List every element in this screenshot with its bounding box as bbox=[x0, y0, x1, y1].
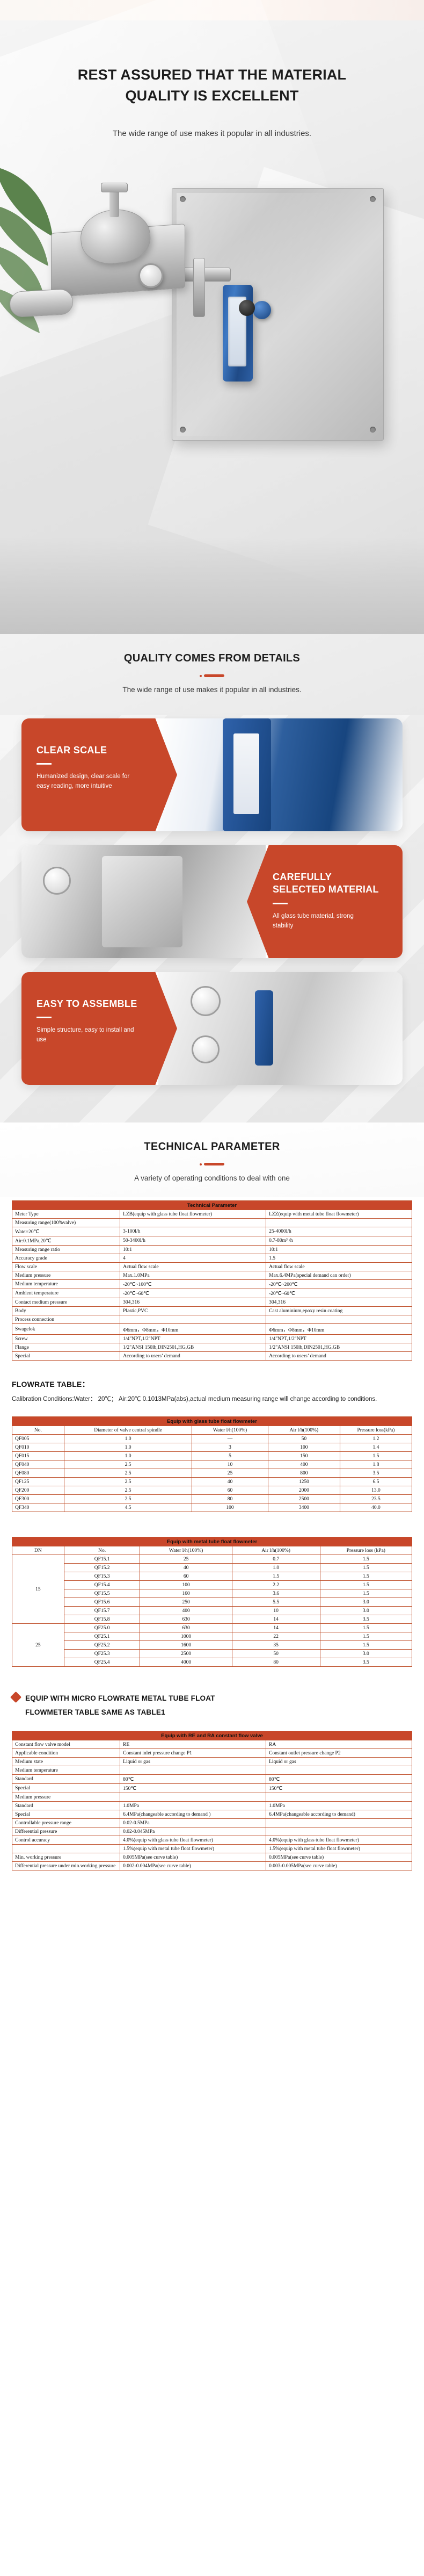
table-cell bbox=[266, 1827, 412, 1836]
table-cell: Body bbox=[12, 1307, 120, 1315]
table-row: QF0101.031001.4 bbox=[12, 1443, 412, 1452]
table-row: QF15.41002.21.5 bbox=[12, 1581, 412, 1589]
table-cell: 4000 bbox=[140, 1658, 232, 1667]
table-row: QF25.32500503.0 bbox=[12, 1650, 412, 1658]
table-cell: 3.5 bbox=[320, 1658, 412, 1667]
table-header: Equip with metal tube float flowmeter bbox=[12, 1537, 412, 1546]
column-header: Air l/h(100%) bbox=[232, 1546, 320, 1555]
card-title: CLEAR SCALE bbox=[36, 744, 161, 757]
column-header: Pressure loss(kPa) bbox=[340, 1426, 412, 1435]
table-cell: 2500 bbox=[140, 1650, 232, 1658]
micro-heading-line2: FLOWMETER TABLE SAME AS TABLE1 bbox=[25, 1708, 165, 1716]
table-cell: 60 bbox=[192, 1486, 268, 1495]
table-cell: Differential pressure under min.working … bbox=[12, 1862, 120, 1870]
table-cell: 400 bbox=[268, 1460, 340, 1469]
table-row: Measuring range(100%valve) bbox=[12, 1219, 412, 1227]
table-cell: 1.5 bbox=[232, 1572, 320, 1581]
table-cell: Meter Type bbox=[12, 1210, 120, 1219]
table-cell: 6.4MPa(changeable according to demand ) bbox=[120, 1810, 266, 1819]
table-cell: 2.5 bbox=[64, 1460, 192, 1469]
technical-parameter-title: TECHNICAL PARAMETER bbox=[0, 1141, 424, 1153]
table-cell: 1250 bbox=[268, 1478, 340, 1486]
table-cell: 25 bbox=[140, 1555, 232, 1564]
table-cell: 60 bbox=[140, 1572, 232, 1581]
table-cell: 1.5 bbox=[320, 1555, 412, 1564]
table-cell: RA bbox=[266, 1740, 412, 1749]
table-cell: 50 bbox=[232, 1650, 320, 1658]
table-cell: Water:20℃ bbox=[12, 1227, 120, 1236]
table-cell: 630 bbox=[140, 1615, 232, 1624]
table-row: Constant flow valve modelRERA bbox=[12, 1740, 412, 1749]
table-cell: QF25.3 bbox=[64, 1650, 140, 1658]
table-cell: -20℃~60℃ bbox=[266, 1289, 412, 1298]
table-cell: 1.5 bbox=[320, 1589, 412, 1598]
table-row: Ambient temperature-20℃~60℃-20℃~60℃ bbox=[12, 1289, 412, 1298]
selected-material-panel: CAREFULLY SELECTED MATERIAL All glass tu… bbox=[247, 845, 403, 958]
table-cell: 150℃ bbox=[266, 1784, 412, 1793]
table-row: QF0051.0—501.2 bbox=[12, 1435, 412, 1443]
table-cell: Max.1.0MPa bbox=[120, 1271, 266, 1280]
column-header: No. bbox=[64, 1546, 140, 1555]
table-row: Contact medium pressure304,316304,316 bbox=[12, 1298, 412, 1307]
table-cell: Liquid or gas bbox=[266, 1758, 412, 1766]
table-cell: 1.4 bbox=[340, 1443, 412, 1452]
table-cell: Max.6.4MPa(special demand can order) bbox=[266, 1271, 412, 1280]
table-row: Flow scaleActual flow scaleActual flow s… bbox=[12, 1263, 412, 1271]
table-row: QF25.21600351.5 bbox=[12, 1641, 412, 1650]
table-cell: QF15.8 bbox=[64, 1615, 140, 1624]
table-cell: QF25.0 bbox=[64, 1624, 140, 1632]
hero-subtitle: The wide range of use makes it popular i… bbox=[0, 129, 424, 138]
table-cell bbox=[266, 1819, 412, 1827]
blue-flowmeter-body bbox=[223, 285, 253, 382]
table-row: Measuring range ratio10:110:1 bbox=[12, 1246, 412, 1254]
micro-heading-line1: EQUIP WITH MICRO FLOWRATE METAL TUBE FLO… bbox=[25, 1694, 215, 1702]
table-cell: 6.4MPa(changeable according to demand) bbox=[266, 1810, 412, 1819]
table-cell: — bbox=[192, 1435, 268, 1443]
table-cell: Cast aluminium,epoxy resin coating bbox=[266, 1307, 412, 1315]
card-underline bbox=[36, 763, 52, 765]
table-cell: 1.5 bbox=[266, 1254, 412, 1263]
table-cell: Constant outlet pressure change P2 bbox=[266, 1749, 412, 1758]
table-cell: LZZ(equip with metal tube float flowmete… bbox=[266, 1210, 412, 1219]
table-cell: Flow scale bbox=[12, 1263, 120, 1271]
table-row: Screw1/4"NPT,1/2"NPT1/4"NPT,1/2"NPT bbox=[12, 1335, 412, 1343]
table-cell: 3.0 bbox=[320, 1650, 412, 1658]
column-header: Pressure loss (kPa) bbox=[320, 1546, 412, 1555]
table-cell: 1000 bbox=[140, 1632, 232, 1641]
table-cell: 6.5 bbox=[340, 1478, 412, 1486]
table-cell: QF25.4 bbox=[64, 1658, 140, 1667]
table-cell: 304,316 bbox=[266, 1298, 412, 1307]
table-cell: LZB(equip with glass tube float flowmete… bbox=[120, 1210, 266, 1219]
table-cell: 40 bbox=[192, 1478, 268, 1486]
card-underline bbox=[273, 903, 288, 904]
table-cell: QF15.6 bbox=[64, 1598, 140, 1607]
table-row: Flange1/2"ANSI 150lb,DIN2501,HG,GB1/2"AN… bbox=[12, 1343, 412, 1352]
table-cell: 160 bbox=[140, 1589, 232, 1598]
table-cell: 25-4000l/h bbox=[266, 1227, 412, 1236]
hero-title-line1: REST ASSURED THAT THE MATERIAL bbox=[21, 64, 403, 85]
table-cell: 1/2"ANSI 150lb,DIN2501,HG,GB bbox=[120, 1343, 266, 1352]
table-cell: 5 bbox=[192, 1452, 268, 1460]
table-row: 25QF25.0630141.5 bbox=[12, 1624, 412, 1632]
table-row: 1.5%(equip with metal tube float flowmet… bbox=[12, 1845, 412, 1853]
table-cell bbox=[12, 1845, 120, 1853]
table-cell: 40 bbox=[140, 1564, 232, 1572]
table-cell: Swagelok bbox=[12, 1324, 120, 1335]
table-cell bbox=[120, 1315, 266, 1324]
table-cell: 1.0MPa bbox=[266, 1802, 412, 1810]
table-row: Standard80℃80℃ bbox=[12, 1775, 412, 1784]
table-cell: Applicable condition bbox=[12, 1749, 120, 1758]
table-cell: 25 bbox=[192, 1469, 268, 1478]
easy-assemble-panel: EASY TO ASSEMBLE Simple structure, easy … bbox=[21, 972, 177, 1085]
table-row: SwagelokΦ6mm，Φ8mm，Φ10mmΦ6mm，Φ8mm，Φ10mm bbox=[12, 1324, 412, 1335]
table-cell: 0.005MPa(see curve table) bbox=[120, 1853, 266, 1862]
table-cell: 50 bbox=[268, 1435, 340, 1443]
table-cell: QF15.7 bbox=[64, 1607, 140, 1615]
table-cell: 3 bbox=[192, 1443, 268, 1452]
feature-card-clear-scale: CLEAR SCALE Humanized design, clear scal… bbox=[21, 718, 403, 831]
table-cell: QF15.1 bbox=[64, 1555, 140, 1564]
clear-scale-panel: CLEAR SCALE Humanized design, clear scal… bbox=[21, 718, 177, 831]
table-cell: 1.5 bbox=[320, 1564, 412, 1572]
table-cell: 10 bbox=[232, 1607, 320, 1615]
table-row: QF2002.560200013.0 bbox=[12, 1486, 412, 1495]
table-cell: 50-3400l/h bbox=[120, 1236, 266, 1246]
table-cell: 1.5 bbox=[320, 1624, 412, 1632]
table-row: Medium pressure bbox=[12, 1793, 412, 1802]
table-cell: 10:1 bbox=[120, 1246, 266, 1254]
table-cell: 1.5 bbox=[320, 1641, 412, 1650]
card-description: All glass tube material, strong stabilit… bbox=[273, 912, 375, 931]
feature-cards: CLEAR SCALE Humanized design, clear scal… bbox=[0, 715, 424, 1122]
table-cell: 4.0%(equip with glass tube float flowmet… bbox=[120, 1836, 266, 1845]
feature-card-selected-material: CAREFULLY SELECTED MATERIAL All glass tu… bbox=[21, 845, 403, 958]
table-cell: QF15.5 bbox=[64, 1589, 140, 1598]
table-cell: 0.02-0.045MPa bbox=[120, 1827, 266, 1836]
table-cell bbox=[266, 1793, 412, 1802]
technical-parameter-table-wrap: Technical Parameter Meter TypeLZB(equip … bbox=[0, 1197, 424, 1371]
table-cell: 1.0 bbox=[232, 1564, 320, 1572]
technical-parameter-header: TECHNICAL PARAMETER A variety of operati… bbox=[0, 1122, 424, 1197]
table-row: Water:20℃3-100l/h25-4000l/h bbox=[12, 1227, 412, 1236]
section-divider bbox=[200, 674, 224, 677]
clear-scale-photo bbox=[158, 718, 403, 831]
table-cell: QF005 bbox=[12, 1435, 64, 1443]
table-row: Medium pressureMax.1.0MPaMax.6.4MPa(spec… bbox=[12, 1271, 412, 1280]
card-description: Humanized design, clear scale for easy r… bbox=[36, 772, 138, 791]
blue-flowmeter-knob bbox=[253, 301, 271, 319]
table-cell: QF15.3 bbox=[64, 1572, 140, 1581]
table-row: Special150℃150℃ bbox=[12, 1784, 412, 1793]
table-row: Special6.4MPa(changeable according to de… bbox=[12, 1810, 412, 1819]
table-cell: Standard bbox=[12, 1775, 120, 1784]
table-row: QF15.62505.53.0 bbox=[12, 1598, 412, 1607]
table-cell: Φ6mm，Φ8mm，Φ10mm bbox=[120, 1324, 266, 1335]
table-cell: 150 bbox=[268, 1452, 340, 1460]
table-cell: Medium state bbox=[12, 1758, 120, 1766]
table-cell: 2.5 bbox=[64, 1495, 192, 1503]
flowrate-note: Calibration Conditions:Water： 20℃； Air:2… bbox=[0, 1394, 424, 1413]
details-section-subtitle: The wide range of use makes it popular i… bbox=[0, 686, 424, 715]
table-cell: 1.5 bbox=[320, 1581, 412, 1589]
table-cell: 1/4"NPT,1/2"NPT bbox=[266, 1335, 412, 1343]
table-cell: 100 bbox=[268, 1443, 340, 1452]
table-cell: 100 bbox=[140, 1581, 232, 1589]
table-row: QF3002.580250023.5 bbox=[12, 1495, 412, 1503]
table-cell: Control accuracy bbox=[12, 1836, 120, 1845]
table-cell bbox=[120, 1219, 266, 1227]
table-cell: Ambient temperature bbox=[12, 1289, 120, 1298]
table-cell: QF125 bbox=[12, 1478, 64, 1486]
table-cell bbox=[266, 1315, 412, 1324]
feature-card-easy-assemble: EASY TO ASSEMBLE Simple structure, easy … bbox=[21, 972, 403, 1085]
table-cell: 400 bbox=[140, 1607, 232, 1615]
table-cell: 1.5%(equip with metal tube float flowmet… bbox=[120, 1845, 266, 1853]
table-cell: 630 bbox=[140, 1624, 232, 1632]
table-cell: QF15.2 bbox=[64, 1564, 140, 1572]
table-cell bbox=[120, 1793, 266, 1802]
table-cell: According to users’ demand bbox=[120, 1352, 266, 1361]
table-row: QF25.44000803.5 bbox=[12, 1658, 412, 1667]
table-row: Min. working pressure0.005MPa(see curve … bbox=[12, 1853, 412, 1862]
table-row: Air:0.1MPa,20℃50-3400l/h0.7-80m³ /h bbox=[12, 1236, 412, 1246]
table-cell: -20℃~60℃ bbox=[120, 1289, 266, 1298]
table-cell: QF340 bbox=[12, 1503, 64, 1512]
table-cell: 10 bbox=[192, 1460, 268, 1469]
table-cell: 0.005MPa(see curve table) bbox=[266, 1853, 412, 1862]
table-cell: Constant inlet pressure change P1 bbox=[120, 1749, 266, 1758]
details-section-header: QUALITY COMES FROM DETAILS The wide rang… bbox=[0, 634, 424, 715]
table-cell: 80 bbox=[232, 1658, 320, 1667]
table-cell: 2.5 bbox=[64, 1486, 192, 1495]
card-description: Simple structure, easy to install and us… bbox=[36, 1026, 138, 1045]
table-cell: 40.0 bbox=[340, 1503, 412, 1512]
table-cell: 1.5 bbox=[320, 1572, 412, 1581]
table-cell: 35 bbox=[232, 1641, 320, 1650]
table-row: QF3404.5100340040.0 bbox=[12, 1503, 412, 1512]
table-cell: 2.2 bbox=[232, 1581, 320, 1589]
table-row: QF0151.051501.5 bbox=[12, 1452, 412, 1460]
valve-table-wrap: Equip with RE and RA constant flow valve… bbox=[0, 1721, 424, 1881]
table-cell bbox=[120, 1766, 266, 1775]
hero-title: REST ASSURED THAT THE MATERIAL QUALITY I… bbox=[0, 64, 424, 106]
constant-flow-valve-table: Equip with RE and RA constant flow valve… bbox=[12, 1731, 412, 1870]
table-cell: 3.5 bbox=[320, 1615, 412, 1624]
technical-parameter-table: Technical Parameter Meter TypeLZB(equip … bbox=[12, 1200, 412, 1361]
table-row: QF0402.5104001.8 bbox=[12, 1460, 412, 1469]
table-row: QF25.11000221.5 bbox=[12, 1632, 412, 1641]
hero-floor-shadow bbox=[0, 537, 424, 634]
valve-cap bbox=[101, 183, 128, 192]
table-cell: Flange bbox=[12, 1343, 120, 1352]
column-header: Air l/h(100%) bbox=[268, 1426, 340, 1435]
column-header: Diameter of valve central spindle bbox=[64, 1426, 192, 1435]
table-cell: 0.7-80m³ /h bbox=[266, 1236, 412, 1246]
table-cell: QF300 bbox=[12, 1495, 64, 1503]
table-cell: 800 bbox=[268, 1469, 340, 1478]
table-cell: 3.6 bbox=[232, 1589, 320, 1598]
table-row: Standard1.0MPa1.0MPa bbox=[12, 1802, 412, 1810]
table-cell: 0.02-0.5MPa bbox=[120, 1819, 266, 1827]
table-cell: Liquid or gas bbox=[120, 1758, 266, 1766]
flowrate-table-title: FLOWRATE TABLE： bbox=[0, 1371, 424, 1394]
easy-assemble-photo bbox=[158, 972, 403, 1085]
table-cell: -20℃~100℃ bbox=[120, 1280, 266, 1289]
table-cell: 14 bbox=[232, 1615, 320, 1624]
cylinder-actuator bbox=[9, 289, 74, 318]
table-cell: 1.2 bbox=[340, 1435, 412, 1443]
table-cell: 3.0 bbox=[320, 1607, 412, 1615]
table-cell: 4.5 bbox=[64, 1503, 192, 1512]
table-cell: 13.0 bbox=[340, 1486, 412, 1495]
table-cell: 3.0 bbox=[320, 1598, 412, 1607]
table-cell: 0.003-0.005MPa(see curve table) bbox=[266, 1862, 412, 1870]
pressure-gauge bbox=[138, 263, 163, 288]
vertical-pipe bbox=[193, 258, 205, 317]
table-cell: 1.0MPa bbox=[120, 1802, 266, 1810]
table-cell: 1/2"ANSI 150lb,DIN2501,HG,GB bbox=[266, 1343, 412, 1352]
table-cell: 3400 bbox=[268, 1503, 340, 1512]
dn-group-cell: 25 bbox=[12, 1624, 64, 1667]
table-cell: 1600 bbox=[140, 1641, 232, 1650]
table-row: Medium temperature bbox=[12, 1766, 412, 1775]
table-cell: 0.7 bbox=[232, 1555, 320, 1564]
card-title: EASY TO ASSEMBLE bbox=[36, 998, 161, 1010]
table-cell: Special bbox=[12, 1352, 120, 1361]
table-row: 15QF15.1250.71.5 bbox=[12, 1555, 412, 1564]
table-cell: 1.8 bbox=[340, 1460, 412, 1469]
valve-stem bbox=[109, 189, 119, 217]
table-header: Technical Parameter bbox=[12, 1201, 412, 1210]
table-row: QF15.7400103.0 bbox=[12, 1607, 412, 1615]
table-cell: Measuring range ratio bbox=[12, 1246, 120, 1254]
table-cell: Contact medium pressure bbox=[12, 1298, 120, 1307]
micro-flowrate-heading-text: EQUIP WITH MICRO FLOWRATE METAL TUBE FLO… bbox=[25, 1692, 215, 1719]
table-cell: 5.5 bbox=[232, 1598, 320, 1607]
table-cell: Medium temperature bbox=[12, 1280, 120, 1289]
table-cell: 80℃ bbox=[266, 1775, 412, 1784]
table-cell: According to users’ demand bbox=[266, 1352, 412, 1361]
table-cell: 100 bbox=[192, 1503, 268, 1512]
column-header: Water l/h(100%) bbox=[140, 1546, 232, 1555]
table-cell: Constant flow valve model bbox=[12, 1740, 120, 1749]
table-header: Equip with RE and RA constant flow valve bbox=[12, 1731, 412, 1740]
column-header: No. bbox=[12, 1426, 64, 1435]
table-cell: Φ6mm，Φ8mm，Φ10mm bbox=[266, 1324, 412, 1335]
selected-material-photo bbox=[21, 845, 266, 958]
table-header: Equip with glass tube float flowmeter bbox=[12, 1417, 412, 1426]
table-cell bbox=[266, 1766, 412, 1775]
table-cell: 304,316 bbox=[120, 1298, 266, 1307]
diamond-bullet-icon bbox=[10, 1692, 21, 1703]
table-cell: 4.0%(equip with glass tube float flowmet… bbox=[266, 1836, 412, 1845]
table-cell: 2.5 bbox=[64, 1469, 192, 1478]
column-header: Water l/h(100%) bbox=[192, 1426, 268, 1435]
table-row: Accuracy grade41.5 bbox=[12, 1254, 412, 1263]
product-detail-page: REST ASSURED THAT THE MATERIAL QUALITY I… bbox=[0, 0, 424, 1903]
table-cell: 2500 bbox=[268, 1495, 340, 1503]
column-header: DN bbox=[12, 1546, 64, 1555]
table-cell: RE bbox=[120, 1740, 266, 1749]
table-cell: 1.5 bbox=[320, 1632, 412, 1641]
table-cell: Special bbox=[12, 1784, 120, 1793]
table-row: QF15.3601.51.5 bbox=[12, 1572, 412, 1581]
table-row: QF15.8630143.5 bbox=[12, 1615, 412, 1624]
table-row: Medium temperature-20℃~100℃-20℃~200℃ bbox=[12, 1280, 412, 1289]
table-cell: 1.5 bbox=[340, 1452, 412, 1460]
table-cell: QF040 bbox=[12, 1460, 64, 1469]
table-cell: 2000 bbox=[268, 1486, 340, 1495]
table-row: Differential pressure under min.working … bbox=[12, 1862, 412, 1870]
technical-parameter-subtitle: A variety of operating conditions to dea… bbox=[0, 1174, 424, 1192]
table-cell: 2.5 bbox=[64, 1478, 192, 1486]
table-cell: QF080 bbox=[12, 1469, 64, 1478]
table-cell: Measuring range(100%valve) bbox=[12, 1219, 120, 1227]
table-row: Controllable pressure range0.02-0.5MPa bbox=[12, 1819, 412, 1827]
glass-tube-table-wrap: Equip with glass tube float flowmeter No… bbox=[0, 1413, 424, 1523]
table-cell: 4 bbox=[120, 1254, 266, 1263]
table-cell: Controllable pressure range bbox=[12, 1819, 120, 1827]
table-row: Differential pressure0.02-0.045MPa bbox=[12, 1827, 412, 1836]
tech-divider bbox=[200, 1163, 224, 1165]
table-cell: Min. working pressure bbox=[12, 1853, 120, 1862]
table-cell: 0.002-0.004MPa(see curve table) bbox=[120, 1862, 266, 1870]
table-cell: QF25.1 bbox=[64, 1632, 140, 1641]
table-cell: Actual flow scale bbox=[120, 1263, 266, 1271]
table-cell: Medium pressure bbox=[12, 1271, 120, 1280]
table-cell: Process connection bbox=[12, 1315, 120, 1324]
table-cell: Differential pressure bbox=[12, 1827, 120, 1836]
table-cell: Standard bbox=[12, 1802, 120, 1810]
table-cell: 1.0 bbox=[64, 1435, 192, 1443]
table-row: QF0802.5258003.5 bbox=[12, 1469, 412, 1478]
table-cell: Medium pressure bbox=[12, 1793, 120, 1802]
hero-product-photo bbox=[0, 177, 424, 478]
table-cell: 1/4"NPT,1/2"NPT bbox=[120, 1335, 266, 1343]
table-cell: 3.5 bbox=[340, 1469, 412, 1478]
table-cell: 80℃ bbox=[120, 1775, 266, 1784]
table-cell: QF010 bbox=[12, 1443, 64, 1452]
table-cell: Accuracy grade bbox=[12, 1254, 120, 1263]
glass-tube-flowmeter-table: Equip with glass tube float flowmeter No… bbox=[12, 1416, 412, 1512]
table-cell: Plastic,PVC bbox=[120, 1307, 266, 1315]
table-cell: Medium temperature bbox=[12, 1766, 120, 1775]
table-cell: Screw bbox=[12, 1335, 120, 1343]
adjustment-knob bbox=[239, 300, 255, 316]
table-cell: -20℃~200℃ bbox=[266, 1280, 412, 1289]
table-row: Process connection bbox=[12, 1315, 412, 1324]
table-cell: Air:0.1MPa,20℃ bbox=[12, 1236, 120, 1246]
table-cell: QF015 bbox=[12, 1452, 64, 1460]
details-section-title: QUALITY COMES FROM DETAILS bbox=[0, 652, 424, 665]
hero-title-line2: QUALITY IS EXCELLENT bbox=[21, 85, 403, 106]
table-cell: 14 bbox=[232, 1624, 320, 1632]
card-underline bbox=[36, 1017, 52, 1018]
table-row: SpecialAccording to users’ demandAccordi… bbox=[12, 1352, 412, 1361]
page-bottom-spacer bbox=[0, 1881, 424, 1903]
card-title: CAREFULLY SELECTED MATERIAL bbox=[273, 871, 386, 896]
table-cell: 1.5%(equip with metal tube float flowmet… bbox=[266, 1845, 412, 1853]
table-cell: QF15.4 bbox=[64, 1581, 140, 1589]
table-cell: 23.5 bbox=[340, 1495, 412, 1503]
table-cell: Special bbox=[12, 1810, 120, 1819]
table-row: QF15.51603.61.5 bbox=[12, 1589, 412, 1598]
table-cell: 1.0 bbox=[64, 1443, 192, 1452]
table-row: Applicable conditionConstant inlet press… bbox=[12, 1749, 412, 1758]
